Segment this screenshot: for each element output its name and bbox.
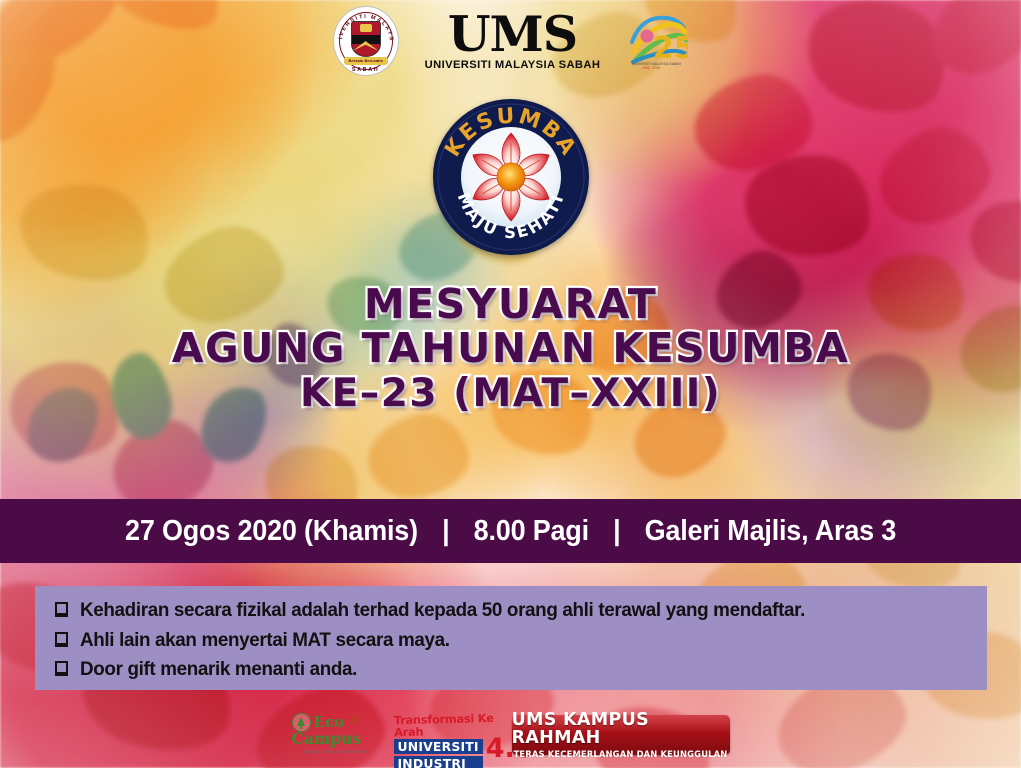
kesumba-emblem: KESUMBA MAJU SEHATI [432,98,590,256]
checkbox-icon [55,602,68,615]
industri-40-logo: Transformasi Ke Arah UNIVERSITI INDUSTRI… [394,714,498,756]
kampus-rahmah-banner: UMS KAMPUS RAHMAH TERAS KECEMERLANGAN DA… [512,715,730,755]
event-time: 8.00 Pagi [474,515,589,548]
tree-icon [292,713,311,732]
list-item: Kehadiran secara fizikal adalah terhad k… [55,596,987,626]
industri-headline: Transformasi Ke Arah [393,713,498,739]
anniversary-number: 25 [653,31,688,66]
ums-crest-logo: UNIVERSITI MALAYSIA Bersatu Berusaha Ber… [333,6,399,76]
detail-separator-1: | [418,515,474,548]
notes-list: Kehadiran secara fizikal adalah terhad k… [55,596,987,685]
event-notes-box: Kehadiran secara fizikal adalah terhad k… [35,586,987,690]
anniversary-25-logo: 25 UNIVERSITI MALAYSIA SABAH 1994 - 2019 [626,12,688,70]
detail-separator-2: | [589,515,645,548]
note-text: Ahli lain akan menyertai MAT secara maya… [80,626,450,656]
eco-campus-tagline: Mengurus Idea Menjadi Realiti [292,749,380,754]
title-line-2: AGUNG TAHUNAN KESUMBA [0,326,1021,370]
ums-shield-icon [351,21,381,57]
footer-logo-row: Eco Campus Mengurus Idea Menjadi Realiti… [0,713,1021,757]
event-date: 27 Ogos 2020 (Khamis) [125,515,418,548]
checkbox-icon [55,661,68,674]
event-poster: UNIVERSITI MALAYSIA Bersatu Berusaha Ber… [0,0,1021,768]
ums-fullname: UNIVERSITI MALAYSIA SABAH [425,60,601,71]
title-line-1: MESYUARAT [0,282,1021,326]
poster-title: MESYUARAT AGUNG TAHUNAN KESUMBA KE–23 (M… [0,282,1021,415]
eco-campus-logo: Eco Campus Mengurus Idea Menjadi Realiti [292,713,380,757]
header-logo-row: UNIVERSITI MALAYSIA Bersatu Berusaha Ber… [0,6,1021,76]
note-text: Door gift menarik menanti anda. [80,655,357,685]
eco-campus-line-1: Eco [314,715,345,730]
checkbox-icon [55,632,68,645]
list-item: Ahli lain akan menyertai MAT secara maya… [55,626,987,656]
title-line-3: KE–23 (MAT–XXIII) [0,373,1021,415]
list-item: Door gift menarik menanti anda. [55,655,987,685]
industri-line-1: UNIVERSITI [394,739,483,754]
rahmah-line-1: UMS KAMPUS RAHMAH [512,712,730,747]
ums-wordmark: UMS UNIVERSITI MALAYSIA SABAH [425,10,601,71]
ums-acronym: UMS [448,10,577,59]
ums-crest-sabah-label: SABAH [333,67,399,73]
rahmah-line-2: TERAS KECEMERLANGAN DAN KEUNGGULAN [514,750,728,758]
anniversary-years: 1994 - 2019 [642,66,660,70]
eco-campus-line-2: Campus [292,731,380,747]
note-text: Kehadiran secara fizikal adalah terhad k… [80,596,805,626]
industri-line-2: INDUSTRI [394,756,483,768]
ums-crest-motto: Bersatu Berusaha Berbakti [344,57,388,65]
event-details-bar: 27 Ogos 2020 (Khamis) | 8.00 Pagi | Gale… [0,499,1021,563]
event-venue: Galeri Majlis, Aras 3 [645,515,896,548]
eco-accent-dot-icon [350,715,359,724]
